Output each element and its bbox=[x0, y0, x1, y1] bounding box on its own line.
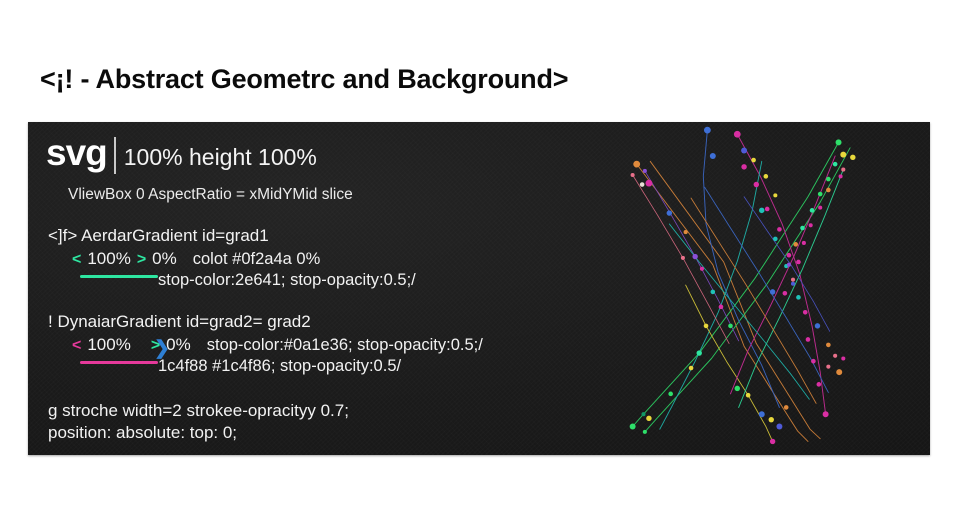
network-node bbox=[803, 310, 808, 315]
network-node bbox=[818, 206, 822, 210]
gradient-1-color-swatch bbox=[80, 275, 158, 278]
viewbox-line: VliewBox 0 AspectRatio = xMidYMid slice bbox=[68, 186, 566, 204]
network-node bbox=[640, 182, 645, 187]
network-node bbox=[809, 223, 813, 227]
network-node bbox=[633, 161, 640, 168]
gradient-2-percent-left: 100% bbox=[87, 335, 130, 355]
network-node bbox=[841, 356, 845, 360]
chevron-left-icon: < bbox=[72, 338, 81, 354]
network-node bbox=[800, 226, 805, 231]
gradient-2-body: < 100% > 0% stop-color:#0a1e36; stop-opa… bbox=[46, 335, 566, 376]
network-node bbox=[697, 350, 702, 355]
network-node bbox=[646, 416, 651, 421]
network-node bbox=[783, 291, 788, 296]
network-node bbox=[710, 153, 716, 159]
network-polyline bbox=[739, 170, 844, 408]
network-node bbox=[777, 227, 782, 232]
network-node bbox=[700, 267, 704, 271]
network-polyline bbox=[744, 197, 830, 332]
svg-tag-label: svg bbox=[46, 134, 107, 171]
gradient-2-title: ! DynaiarGradient id=grad2= grad2 bbox=[48, 312, 566, 332]
gradient-1-row: < 100% > 0% colot #0f2a4a 0% bbox=[72, 249, 566, 269]
network-node bbox=[836, 369, 842, 375]
network-node bbox=[711, 290, 716, 295]
network-node bbox=[796, 295, 801, 300]
network-node bbox=[773, 237, 778, 242]
network-node bbox=[817, 382, 822, 387]
gradient-1-title: <]f> AerdarGradient id=grad1 bbox=[48, 226, 566, 246]
network-node bbox=[641, 412, 645, 416]
network-node bbox=[787, 253, 792, 258]
gradient-1-line-1: colot #0f2a4a 0% bbox=[193, 250, 321, 269]
header-divider bbox=[114, 137, 116, 174]
network-node bbox=[646, 180, 653, 187]
network-node bbox=[643, 430, 647, 434]
svg-header: svg 100% height 100% bbox=[46, 134, 566, 178]
network-node bbox=[719, 305, 724, 310]
gradient-1-percent-right: 0% bbox=[152, 249, 177, 269]
network-node bbox=[704, 127, 711, 134]
polyline-layer bbox=[633, 130, 850, 441]
network-node bbox=[765, 207, 770, 212]
abstract-geometric-network-graphic bbox=[550, 122, 930, 455]
network-node bbox=[776, 423, 782, 429]
network-node bbox=[811, 359, 816, 364]
network-node bbox=[770, 439, 775, 444]
network-node bbox=[754, 182, 759, 187]
network-node bbox=[784, 405, 789, 410]
network-node bbox=[787, 263, 791, 267]
network-node bbox=[833, 162, 838, 167]
network-node bbox=[841, 168, 845, 172]
tail-line-2: position: absolute: top: 0; bbox=[48, 422, 566, 444]
network-node bbox=[791, 282, 795, 286]
network-node bbox=[796, 260, 801, 265]
network-node bbox=[681, 256, 685, 260]
network-node bbox=[751, 158, 756, 163]
network-node bbox=[810, 208, 815, 213]
gradient-2-color-swatch bbox=[80, 361, 158, 364]
network-node bbox=[769, 417, 774, 422]
network-node bbox=[818, 192, 823, 197]
gradient-2-line-2: 1c4f88 #1c4f86; stop-opacity:0.5/ bbox=[72, 357, 566, 376]
network-node bbox=[759, 411, 765, 417]
network-node bbox=[823, 411, 829, 417]
network-node bbox=[806, 337, 811, 342]
network-node bbox=[764, 174, 769, 179]
network-node bbox=[689, 366, 694, 371]
network-node bbox=[735, 386, 740, 391]
network-node bbox=[773, 193, 777, 197]
network-node bbox=[770, 289, 775, 294]
network-polyline bbox=[637, 164, 808, 441]
gradient-1-body: < 100% > 0% colot #0f2a4a 0% stop-color:… bbox=[46, 249, 566, 290]
network-polyline bbox=[633, 142, 839, 426]
network-node bbox=[826, 343, 831, 348]
tail-block: g stroche width=2 strokee-opracityy 0.7;… bbox=[48, 400, 566, 445]
page-title: <¡! - Abstract Geometrc and Background> bbox=[40, 64, 568, 95]
network-node bbox=[631, 173, 635, 177]
network-polyline bbox=[737, 134, 825, 414]
network-node bbox=[802, 241, 806, 245]
network-node bbox=[850, 155, 855, 160]
chevron-mid-icon: ❯ bbox=[154, 339, 170, 358]
slide-canvas: <¡! - Abstract Geometrc and Background> … bbox=[0, 0, 960, 524]
network-node bbox=[839, 174, 843, 178]
network-node bbox=[741, 148, 747, 154]
network-node bbox=[734, 131, 741, 138]
network-svg bbox=[550, 122, 930, 455]
code-panel: svg 100% height 100% VliewBox 0 AspectRa… bbox=[28, 122, 930, 455]
network-node bbox=[643, 169, 647, 173]
network-node bbox=[704, 324, 709, 329]
chevron-left-icon: < bbox=[72, 252, 81, 268]
svg-dimensions-label: 100% height 100% bbox=[124, 146, 317, 169]
chevron-right-icon: > bbox=[137, 252, 146, 268]
network-polyline bbox=[645, 148, 850, 432]
network-node bbox=[826, 188, 831, 193]
network-node bbox=[741, 164, 746, 169]
network-polyline bbox=[730, 156, 835, 394]
network-node bbox=[826, 365, 830, 369]
network-node bbox=[793, 242, 798, 247]
network-node bbox=[815, 323, 820, 328]
network-node bbox=[759, 208, 764, 213]
network-polyline bbox=[645, 171, 739, 341]
gradient-2-line-1: stop-color:#0a1e36; stop-opacity:0.5;/ bbox=[207, 336, 483, 355]
network-polyline bbox=[691, 198, 816, 403]
gradient-2-row: < 100% > 0% stop-color:#0a1e36; stop-opa… bbox=[72, 335, 566, 355]
network-node bbox=[833, 354, 837, 358]
gradient-block-2: ! DynaiarGradient id=grad2= grad2 < 100%… bbox=[46, 312, 566, 376]
network-node bbox=[836, 139, 842, 145]
network-node bbox=[667, 210, 672, 215]
network-node bbox=[692, 254, 697, 259]
code-column: svg 100% height 100% VliewBox 0 AspectRa… bbox=[46, 134, 566, 445]
tail-line-1: g stroche width=2 strokee-opracityy 0.7; bbox=[48, 400, 566, 422]
gradient-1-line-2: stop-color:2e641; stop-opacity:0.5;/ bbox=[72, 271, 566, 290]
network-node bbox=[668, 392, 673, 397]
network-node bbox=[746, 393, 751, 398]
gradient-1-percent-left: 100% bbox=[87, 249, 130, 269]
network-node bbox=[684, 230, 688, 234]
network-node bbox=[791, 278, 795, 282]
network-node bbox=[826, 177, 831, 182]
network-node bbox=[840, 152, 846, 158]
network-node bbox=[728, 324, 733, 329]
gradient-block-1: <]f> AerdarGradient id=grad1 < 100% > 0%… bbox=[46, 226, 566, 290]
network-node bbox=[630, 423, 636, 429]
